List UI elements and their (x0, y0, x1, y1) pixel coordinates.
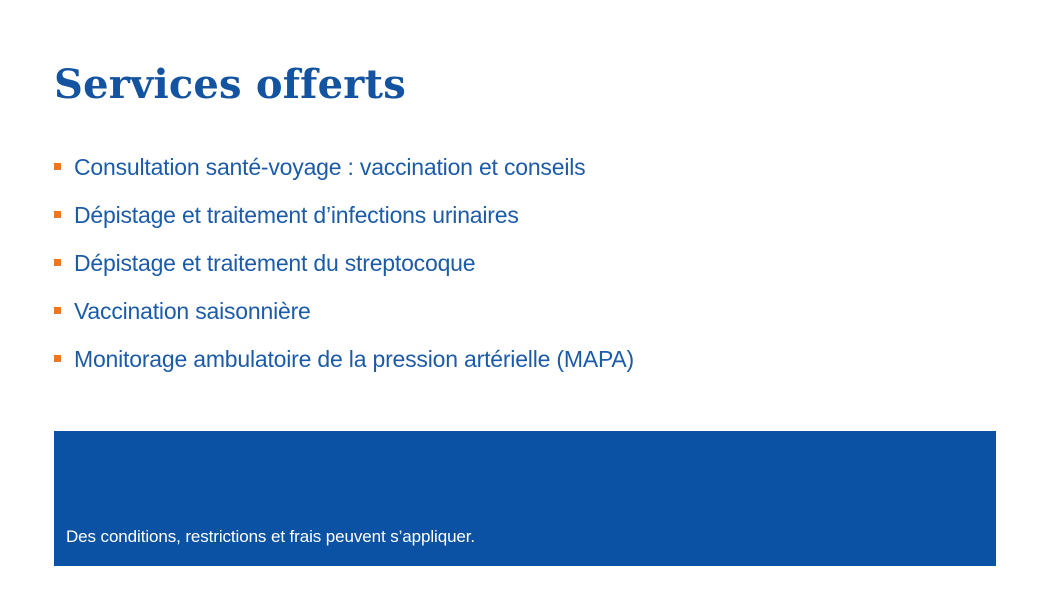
list-item-label: Dépistage et traitement du streptocoque (74, 249, 475, 277)
list-item: Dépistage et traitement du streptocoque (54, 239, 954, 287)
services-list: Consultation santé-voyage : vaccination … (54, 143, 954, 383)
list-item-label: Consultation santé-voyage : vaccination … (74, 153, 585, 181)
list-item: Consultation santé-voyage : vaccination … (54, 143, 954, 191)
list-item-label: Vaccination saisonnière (74, 297, 311, 325)
square-bullet-icon (54, 259, 61, 266)
square-bullet-icon (54, 163, 61, 170)
square-bullet-icon (54, 355, 61, 362)
list-item: Vaccination saisonnière (54, 287, 954, 335)
footer-banner: Des conditions, restrictions et frais pe… (54, 431, 996, 566)
list-item: Dépistage et traitement d’infections uri… (54, 191, 954, 239)
footer-disclaimer-text: Des conditions, restrictions et frais pe… (66, 526, 475, 548)
slide-canvas: Services offerts Consultation santé-voya… (0, 0, 1050, 600)
square-bullet-icon (54, 307, 61, 314)
list-item-label: Monitorage ambulatoire de la pression ar… (74, 345, 634, 373)
list-item: Monitorage ambulatoire de la pression ar… (54, 335, 954, 383)
list-item-label: Dépistage et traitement d’infections uri… (74, 201, 519, 229)
page-title: Services offerts (54, 61, 406, 109)
square-bullet-icon (54, 211, 61, 218)
